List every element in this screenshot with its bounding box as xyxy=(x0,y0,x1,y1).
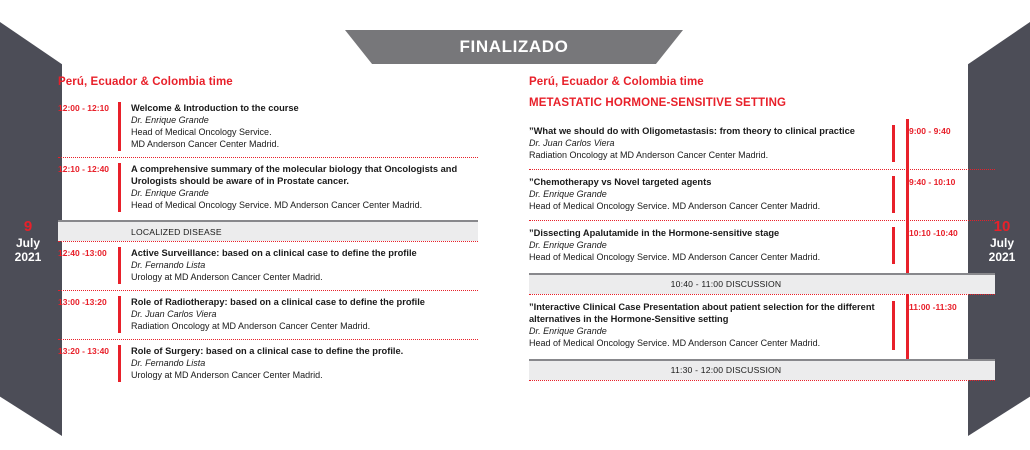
session-time: 12:10 - 12:40 xyxy=(58,163,118,174)
session-affiliation: Head of Medical Oncology Service. xyxy=(131,127,478,139)
red-rail-segment xyxy=(118,345,121,382)
timezone-title-right: Perú, Ecuador & Colombia time xyxy=(529,76,995,88)
session-body: ”Dissecting Apalutamide in the Hormone-s… xyxy=(529,227,892,264)
date-left-month: July xyxy=(0,236,56,250)
session-affiliation: Head of Medical Oncology Service. MD And… xyxy=(529,201,882,213)
agenda-column-day-9: Perú, Ecuador & Colombia time 12:00 - 12… xyxy=(58,76,478,388)
session-time: 10:10 -10:40 xyxy=(895,227,995,238)
discussion-band: 11:30 - 12:00 DISCUSSION xyxy=(529,359,995,380)
red-rail-segment xyxy=(118,296,121,333)
date-left-day: 9 xyxy=(0,218,56,236)
session-list-left: 12:00 - 12:10Welcome & Introduction to t… xyxy=(58,97,478,388)
session-body: Welcome & Introduction to the courseDr. … xyxy=(131,102,478,151)
date-panel-left: 9 July 2021 xyxy=(0,22,62,436)
session-affiliation: MD Anderson Cancer Center Madrid. xyxy=(131,139,478,151)
session-title: Welcome & Introduction to the course xyxy=(131,102,478,114)
session-title: A comprehensive summary of the molecular… xyxy=(131,163,478,188)
date-panel-left-inner: 9 July 2021 xyxy=(0,218,62,264)
session-row[interactable]: 12:00 - 12:10Welcome & Introduction to t… xyxy=(58,97,478,157)
session-title: ”Dissecting Apalutamide in the Hormone-s… xyxy=(529,227,882,239)
session-body: ”Interactive Clinical Case Presentation … xyxy=(529,301,892,350)
discussion-band-label: 10:40 - 11:00 DISCUSSION xyxy=(529,279,995,289)
discussion-band-label: 11:30 - 12:00 DISCUSSION xyxy=(529,365,995,375)
session-speaker: Dr. Enrique Grande xyxy=(529,189,882,201)
session-row[interactable]: ”Chemotherapy vs Novel targeted agentsDr… xyxy=(529,170,995,220)
red-rail-segment xyxy=(118,247,121,284)
session-body: Active Surveillance: based on a clinical… xyxy=(131,247,478,284)
session-title: ”Chemotherapy vs Novel targeted agents xyxy=(529,176,882,188)
session-speaker: Dr. Enrique Grande xyxy=(131,115,478,127)
session-speaker: Dr. Fernando Lista xyxy=(131,260,478,272)
session-time: 12:00 - 12:10 xyxy=(58,102,118,113)
section-title-metastatic: METASTATIC HORMONE-SENSITIVE SETTING xyxy=(529,97,995,109)
section-band: LOCALIZED DISEASE xyxy=(58,220,478,241)
session-speaker: Dr. Enrique Grande xyxy=(529,240,882,252)
session-list-right: ”What we should do with Oligometastasis:… xyxy=(529,119,995,381)
session-body: A comprehensive summary of the molecular… xyxy=(131,163,478,212)
session-body: ”What we should do with Oligometastasis:… xyxy=(529,125,892,162)
session-affiliation: Head of Medical Oncology Service. MD And… xyxy=(529,338,882,350)
row-separator xyxy=(529,380,995,381)
session-affiliation: Urology at MD Anderson Cancer Center Mad… xyxy=(131,370,478,382)
date-left-year: 2021 xyxy=(0,250,56,264)
session-time: 9:40 - 10:10 xyxy=(895,176,995,187)
section-band-label: LOCALIZED DISEASE xyxy=(58,227,222,237)
session-title: Active Surveillance: based on a clinical… xyxy=(131,247,478,259)
session-speaker: Dr. Juan Carlos Viera xyxy=(131,309,478,321)
session-row[interactable]: 12:40 -13:00Active Surveillance: based o… xyxy=(58,242,478,290)
session-time: 13:00 -13:20 xyxy=(58,296,118,307)
session-list-right-wrap: ”What we should do with Oligometastasis:… xyxy=(529,119,995,381)
discussion-band: 10:40 - 11:00 DISCUSSION xyxy=(529,273,995,294)
session-affiliation: Head of Medical Oncology Service. MD And… xyxy=(131,200,478,212)
session-affiliation: Radiation Oncology at MD Anderson Cancer… xyxy=(131,321,478,333)
session-title: ”Interactive Clinical Case Presentation … xyxy=(529,301,882,326)
session-row[interactable]: ”What we should do with Oligometastasis:… xyxy=(529,119,995,169)
status-banner: FINALIZADO xyxy=(345,30,683,64)
session-affiliation: Head of Medical Oncology Service. MD And… xyxy=(529,252,882,264)
session-time: 11:00 -11:30 xyxy=(895,301,995,312)
session-title: ”What we should do with Oligometastasis:… xyxy=(529,125,882,137)
session-title: Role of Surgery: based on a clinical cas… xyxy=(131,345,478,357)
session-row[interactable]: ”Dissecting Apalutamide in the Hormone-s… xyxy=(529,221,995,271)
session-affiliation: Radiation Oncology at MD Anderson Cancer… xyxy=(529,150,882,162)
session-body: ”Chemotherapy vs Novel targeted agentsDr… xyxy=(529,176,892,213)
agenda-column-day-10: Perú, Ecuador & Colombia time METASTATIC… xyxy=(529,76,995,381)
session-row[interactable]: 13:00 -13:20Role of Radiotherapy: based … xyxy=(58,291,478,339)
session-row[interactable]: 13:20 - 13:40Role of Surgery: based on a… xyxy=(58,340,478,388)
session-speaker: Dr. Enrique Grande xyxy=(529,326,882,338)
session-affiliation: Urology at MD Anderson Cancer Center Mad… xyxy=(131,272,478,284)
session-body: Role of Surgery: based on a clinical cas… xyxy=(131,345,478,382)
red-rail-segment xyxy=(118,163,121,212)
timezone-title-left: Perú, Ecuador & Colombia time xyxy=(58,76,478,88)
session-speaker: Dr. Enrique Grande xyxy=(131,188,478,200)
session-title: Role of Radiotherapy: based on a clinica… xyxy=(131,296,478,308)
session-time: 12:40 -13:00 xyxy=(58,247,118,258)
session-body: Role of Radiotherapy: based on a clinica… xyxy=(131,296,478,333)
red-rail-segment xyxy=(118,102,121,151)
session-time: 9:00 - 9:40 xyxy=(895,125,995,136)
session-speaker: Dr. Fernando Lista xyxy=(131,358,478,370)
session-row[interactable]: 12:10 - 12:40A comprehensive summary of … xyxy=(58,158,478,218)
session-speaker: Dr. Juan Carlos Viera xyxy=(529,138,882,150)
session-time: 13:20 - 13:40 xyxy=(58,345,118,356)
session-row[interactable]: ”Interactive Clinical Case Presentation … xyxy=(529,295,995,357)
status-banner-label: FINALIZADO xyxy=(460,37,569,57)
agenda-page: 9 July 2021 10 July 2021 FINALIZADO Perú… xyxy=(0,0,1030,450)
